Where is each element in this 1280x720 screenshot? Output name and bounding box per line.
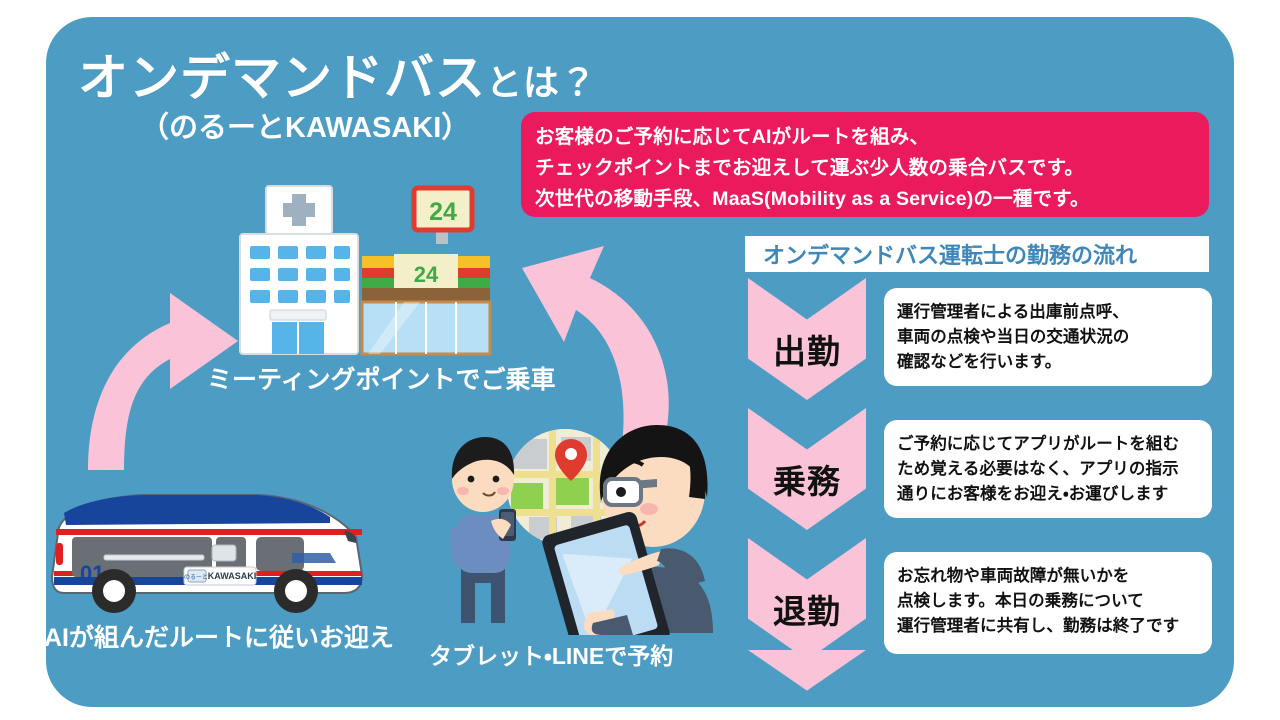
caption-tablet-line-reservation: タブレット・LINEで予約	[429, 637, 673, 671]
convenience-sign-front-label: 24	[414, 262, 439, 287]
infographic-root: オンデマンドバスとは？ （のるーとKAWASAKI） お客様のご予約に応じてAI…	[0, 0, 1280, 720]
bus-logo-label: のるーと	[184, 574, 208, 581]
flow-step-label-2: 乗務	[773, 455, 841, 503]
page-title-main: オンデマンドバス	[78, 50, 486, 106]
page-title-suffix: とは？	[486, 62, 597, 103]
bus-brand-label: KAWASAKI	[208, 571, 257, 581]
flow-step-description-3: お忘れ物や車両故障が無いかを 点検します。本日の乗務について 運行管理者に共有し…	[884, 552, 1212, 654]
flow-section-header-label: オンデマンドバス運転士の勤務の流れ	[745, 238, 1137, 270]
page-subtitle: （のるーとKAWASAKI）	[140, 104, 470, 146]
flow-step-description-line: 通りにお客様をお迎え・お運びします	[897, 482, 1202, 507]
description-line: 次世代の移動手段、MaaS(Mobility as a Service)の一種で…	[535, 184, 1209, 215]
flow-step-description-line: 点検します。本日の乗務について	[897, 589, 1202, 614]
boy-with-smartphone	[450, 437, 516, 623]
flow-step-description-line: 車両の点検や当日の交通状況の	[897, 325, 1202, 350]
flow-section-header: オンデマンドバス運転士の勤務の流れ	[745, 236, 1209, 272]
caption-ai-route-pickup: AIが組んだルートに従いお迎え	[44, 618, 394, 654]
caption-meeting-point: ミーティングポイントでご乗車	[207, 360, 556, 396]
flow-step-description-line: 運行管理者に共有し、勤務は終了です	[897, 614, 1202, 639]
flow-step-description-line: 運行管理者による出庫前点呼、	[897, 300, 1202, 325]
flow-step-description-1: 運行管理者による出庫前点呼、 車両の点検や当日の交通状況の 確認などを行います。	[884, 288, 1212, 386]
flow-step-description-line: お忘れ物や車両故障が無いかを	[897, 564, 1202, 589]
flow-step-description-2: ご予約に応じてアプリがルートを組む ため覚える必要はなく、アプリの指示 通りにお…	[884, 420, 1212, 518]
convenience-sign-top-label: 24	[429, 198, 457, 226]
flow-step-label-3: 退勤	[773, 585, 841, 633]
ondemand-bus-illustration: のるーと KAWASAKI 01	[44, 483, 374, 623]
flow-step-description-line: 確認などを行います。	[897, 350, 1202, 375]
reservation-people-illustration	[443, 417, 723, 635]
flow-step-label-1: 出勤	[773, 325, 841, 373]
description-line: お客様のご予約に応じてAIがルートを組み、	[535, 122, 1209, 153]
flow-step-description-line: ため覚える必要はなく、アプリの指示	[897, 457, 1202, 482]
description-line: チェックポイントまでお迎えして運ぶ少人数の乗合バスです。	[535, 153, 1209, 184]
flow-step-description-line: ご予約に応じてアプリがルートを組む	[897, 432, 1202, 457]
page-title: オンデマンドバスとは？	[78, 38, 597, 110]
meeting-point-buildings-illustration: 24 24	[228, 182, 500, 362]
description-banner: お客様のご予約に応じてAIがルートを組み、 チェックポイントまでお迎えして運ぶ少…	[521, 112, 1209, 217]
